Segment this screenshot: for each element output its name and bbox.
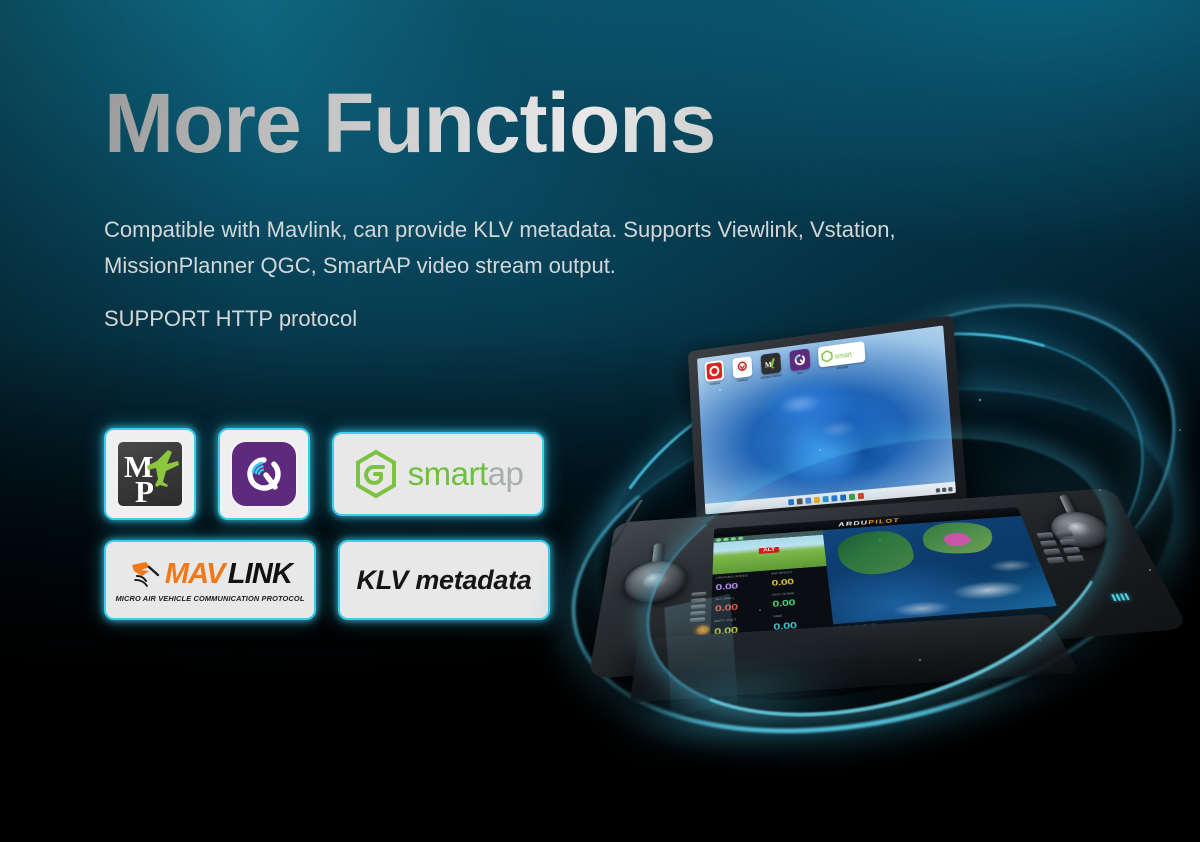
promo-banner: More Functions Compatible with Mavlink, … <box>0 0 1200 842</box>
search-icon[interactable] <box>797 498 803 504</box>
desktop-icon-vstation[interactable]: Vstation <box>730 356 753 384</box>
viewlink-red-circle-icon <box>704 360 724 382</box>
hud-status-dot-1 <box>716 538 721 542</box>
badge-qgroundcontrol[interactable] <box>218 428 310 520</box>
hud-status-dot-4 <box>738 537 743 541</box>
qgroundcontrol-icon <box>230 440 298 508</box>
desktop-icon-label: Viewlink <box>704 381 726 387</box>
telemetry-value: 0.00 <box>772 598 795 609</box>
mission-planner-icon: M <box>760 352 781 375</box>
status-led-strip <box>1111 593 1130 601</box>
battery-icon[interactable] <box>948 487 952 491</box>
store-icon[interactable] <box>831 495 837 501</box>
function-button-6[interactable] <box>1063 547 1081 554</box>
desktop-icon-qgc[interactable]: QGC <box>787 348 811 376</box>
page-title: More Functions <box>104 80 715 167</box>
side-button-1[interactable] <box>691 592 706 597</box>
logo-row-2: MAVLINK MICRO AIR VEHICLE COMMUNICATION … <box>104 540 550 620</box>
function-button-3[interactable] <box>1040 540 1058 547</box>
system-tray[interactable] <box>936 487 953 493</box>
function-button-8[interactable] <box>1066 555 1084 562</box>
badge-mavlink[interactable]: MAVLINK MICRO AIR VEHICLE COMMUNICATION … <box>104 540 316 620</box>
mavlink-tagline: MICRO AIR VEHICLE COMMUNICATION PROTOCOL <box>116 594 305 603</box>
telemetry-label: DIST HOME <box>772 590 826 597</box>
telemetry-value: 0.00 <box>715 581 737 592</box>
antenna <box>610 500 643 547</box>
windows-desktop: Viewlink Vstation M Mission Planner <box>697 325 956 514</box>
qgroundcontrol-icon <box>789 348 810 371</box>
telemetry-cell: GROUND SPEED 0.00 <box>715 573 769 593</box>
mavlink-bird-icon <box>128 559 162 589</box>
desktop-icon-mission-planner[interactable]: M Mission Planner <box>759 352 783 380</box>
hud-status-dot-2 <box>723 538 728 542</box>
app2-icon[interactable] <box>858 492 864 499</box>
task-view-icon[interactable] <box>805 497 811 503</box>
explorer-icon[interactable] <box>814 496 820 502</box>
badge-smartap[interactable]: smartap <box>332 432 544 516</box>
logo-row-1: M P <box>104 428 550 520</box>
mail-icon[interactable] <box>840 494 846 500</box>
telemetry-label: AIR SPEED <box>771 569 824 576</box>
desktop-icon-viewlink[interactable]: Viewlink <box>703 360 726 388</box>
vstation-icon <box>732 356 752 378</box>
mavlink-word-link: LINK <box>228 558 292 591</box>
glass-reflection-panel <box>664 594 738 717</box>
function-button-4[interactable] <box>1059 539 1077 546</box>
smartap-wordmark: smartap <box>408 455 524 493</box>
hero-support-line: SUPPORT HTTP protocol <box>104 306 357 332</box>
function-button-1[interactable] <box>1036 532 1053 538</box>
tablet-display: Viewlink Vstation M Mission Planner <box>688 315 968 530</box>
mission-planner-icon: M P <box>116 440 184 508</box>
badge-mission-planner[interactable]: M P <box>104 428 196 520</box>
telemetry-value: 0.00 <box>771 577 794 588</box>
smartap-word-green: smart <box>408 455 488 492</box>
mavlink-logo: MAVLINK MICRO AIR VEHICLE COMMUNICATION … <box>116 558 305 603</box>
start-icon[interactable] <box>788 498 794 504</box>
telemetry-cell: DIST HOME 0.00 <box>772 590 828 611</box>
telemetry-label: YAW <box>773 612 829 619</box>
smartap-hexagon-icon <box>353 449 399 499</box>
smartap-word-gray: ap <box>488 455 524 492</box>
function-button-5[interactable] <box>1043 548 1061 555</box>
function-button-7[interactable] <box>1046 557 1064 564</box>
network-icon[interactable] <box>936 488 940 492</box>
airplane-icon <box>146 448 180 488</box>
hero-paragraph: Compatible with Mavlink, can provide KLV… <box>104 212 944 283</box>
hud-mode-badge: ALT <box>759 547 780 554</box>
klv-label: KLV metadata <box>357 565 532 596</box>
edge-icon[interactable] <box>823 495 829 501</box>
telemetry-label: GROUND SPEED <box>716 573 769 580</box>
badge-klv-metadata[interactable]: KLV metadata <box>338 540 550 620</box>
partner-logo-grid: M P <box>104 428 550 620</box>
qgc-q-glyph <box>241 451 287 497</box>
mavlink-word-mav: MAV <box>165 558 225 591</box>
hud-status-dot-3 <box>731 537 736 541</box>
function-button-2[interactable] <box>1056 531 1074 537</box>
telemetry-cell: AIR SPEED 0.00 <box>771 569 825 588</box>
smartap-logo: smartap <box>353 449 524 499</box>
ground-control-station-image: Viewlink Vstation M Mission Planner <box>560 300 1200 800</box>
app-icon[interactable] <box>849 493 855 500</box>
mavlink-wordmark-row: MAVLINK <box>128 558 292 591</box>
joystick-left[interactable] <box>622 559 687 604</box>
volume-icon[interactable] <box>942 488 946 492</box>
